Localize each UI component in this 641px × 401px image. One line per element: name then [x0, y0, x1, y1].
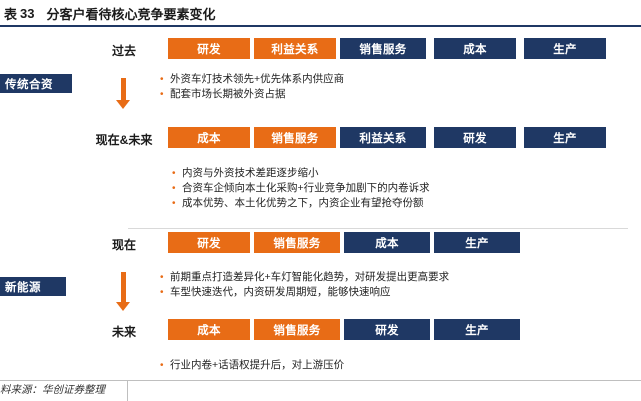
- bullet-dot-icon: •: [160, 72, 170, 87]
- stage-label-row1: 现在&未来: [80, 131, 168, 148]
- box-row0-0: 研发: [168, 38, 250, 59]
- bullet-dot-icon: •: [172, 196, 182, 211]
- bullet-item: • 前期重点打造差异化+车灯智能化趋势，对研发提出更高要求: [160, 270, 449, 285]
- bullet-text: 外资车灯技术领先+优先体系内供应商: [170, 72, 344, 87]
- box-row0-1: 利益关系: [254, 38, 336, 59]
- category-label-newenergy-text: 新能源: [5, 279, 41, 295]
- stage-label-row3: 未来: [80, 323, 168, 340]
- bullet-dot-icon: •: [160, 87, 170, 102]
- box-row2-0: 研发: [168, 232, 250, 253]
- footer-divider: [0, 380, 641, 381]
- stage-label-row2: 现在: [80, 236, 168, 253]
- bullet-dot-icon: •: [160, 358, 170, 373]
- bullet-text: 内资与外资技术差距逐步缩小: [182, 166, 319, 181]
- box-row3-2: 研发: [344, 319, 430, 340]
- bullets-row1: • 内资与外资技术差距逐步缩小 • 合资车企倾向本土化采购+行业竞争加剧下的内卷…: [172, 166, 430, 211]
- down-arrow-icon-row0: [116, 78, 130, 109]
- bullet-text: 车型快速迭代，内资研发周期短，能够快速响应: [170, 285, 391, 300]
- bullet-text: 合资车企倾向本土化采购+行业竞争加剧下的内卷诉求: [182, 181, 430, 196]
- title-divider: [0, 25, 641, 27]
- box-row1-0: 成本: [168, 127, 250, 148]
- box-row3-3: 生产: [434, 319, 520, 340]
- title-label: 表: [4, 4, 17, 23]
- box-row1-4: 生产: [524, 127, 606, 148]
- box-row3-1: 销售服务: [254, 319, 340, 340]
- box-row0-3: 成本: [434, 38, 516, 59]
- box-row3-0: 成本: [168, 319, 250, 340]
- title-number: 33: [20, 6, 34, 21]
- source-note: 料来源：华创证券整理: [0, 382, 105, 397]
- box-row1-3: 研发: [434, 127, 516, 148]
- bullet-item: • 配套市场长期被外资占据: [160, 87, 344, 102]
- box-row0-4: 生产: [524, 38, 606, 59]
- title-text: 分客户看待核心竞争要素变化: [46, 4, 215, 23]
- box-row0-2: 销售服务: [340, 38, 426, 59]
- bullet-text: 成本优势、本土化优势之下，内资企业有望抢夺份额: [182, 196, 424, 211]
- bullet-text: 配套市场长期被外资占据: [170, 87, 286, 102]
- stage-label-row0: 过去: [80, 42, 168, 59]
- bullet-item: • 外资车灯技术领先+优先体系内供应商: [160, 72, 344, 87]
- bullet-dot-icon: •: [160, 270, 170, 285]
- bullet-text: 行业内卷+话语权提升后，对上游压价: [170, 358, 344, 373]
- section-divider: [128, 228, 628, 229]
- category-label-traditional: 传统合资: [0, 74, 72, 93]
- category-label-newenergy: 新能源: [0, 277, 66, 296]
- down-arrow-icon-row2: [116, 272, 130, 311]
- bullets-row0: • 外资车灯技术领先+优先体系内供应商 • 配套市场长期被外资占据: [160, 72, 344, 102]
- box-row2-3: 生产: [434, 232, 520, 253]
- page-title: 表 33 分客户看待核心竞争要素变化: [0, 0, 641, 26]
- bullet-item: • 行业内卷+话语权提升后，对上游压价: [160, 358, 344, 373]
- bullet-item: • 成本优势、本土化优势之下，内资企业有望抢夺份额: [172, 196, 430, 211]
- bullet-item: • 车型快速迭代，内资研发周期短，能够快速响应: [160, 285, 449, 300]
- category-label-traditional-text: 传统合资: [5, 76, 53, 92]
- bullet-dot-icon: •: [172, 181, 182, 196]
- bullet-dot-icon: •: [172, 166, 182, 181]
- bullet-item: • 内资与外资技术差距逐步缩小: [172, 166, 430, 181]
- bullet-dot-icon: •: [160, 285, 170, 300]
- footer-vertical-rule: [127, 381, 128, 401]
- bullet-text: 前期重点打造差异化+车灯智能化趋势，对研发提出更高要求: [170, 270, 449, 285]
- bullet-item: • 合资车企倾向本土化采购+行业竞争加剧下的内卷诉求: [172, 181, 430, 196]
- box-row2-1: 销售服务: [254, 232, 340, 253]
- box-row2-2: 成本: [344, 232, 430, 253]
- box-row1-2: 利益关系: [340, 127, 426, 148]
- bullets-row3: • 行业内卷+话语权提升后，对上游压价: [160, 358, 344, 373]
- bullets-row2: • 前期重点打造差异化+车灯智能化趋势，对研发提出更高要求 • 车型快速迭代，内…: [160, 270, 449, 300]
- box-row1-1: 销售服务: [254, 127, 336, 148]
